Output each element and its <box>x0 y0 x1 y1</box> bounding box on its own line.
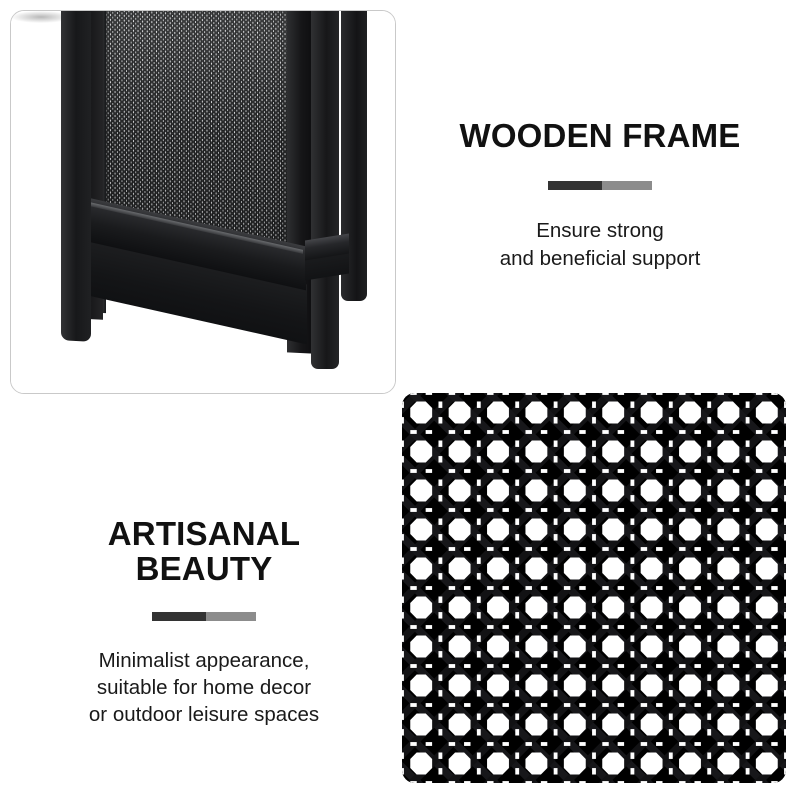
infographic-canvas: WOODEN FRAME Ensure strong and beneficia… <box>0 0 800 800</box>
frame-back-leg-post <box>311 10 339 369</box>
feature-divider-artisanal-beauty <box>152 612 256 621</box>
cane-weave-graphic <box>402 393 786 783</box>
feature-block-wooden-frame: WOODEN FRAME Ensure strong and beneficia… <box>404 118 796 272</box>
divider-segment-light <box>602 181 652 190</box>
feature-description-artisanal-beauty: Minimalist appearance, suitable for home… <box>8 647 400 729</box>
product-photo-wooden-frame <box>11 11 395 393</box>
divider-segment-dark <box>152 612 206 621</box>
feature-title-artisanal-beauty: ARTISANAL BEAUTY <box>8 516 400 587</box>
divider-segment-dark <box>548 181 602 190</box>
rattan-cane-webbing-panel <box>402 393 786 783</box>
feature-divider-wooden-frame <box>548 181 652 190</box>
frame-front-post <box>61 10 91 342</box>
feature-description-wooden-frame: Ensure strong and beneficial support <box>404 217 796 272</box>
feature-block-artisanal-beauty: ARTISANAL BEAUTY Minimalist appearance, … <box>8 516 400 728</box>
product-photo-card <box>10 10 396 394</box>
divider-segment-light <box>206 612 256 621</box>
feature-title-wooden-frame: WOODEN FRAME <box>404 118 796 153</box>
